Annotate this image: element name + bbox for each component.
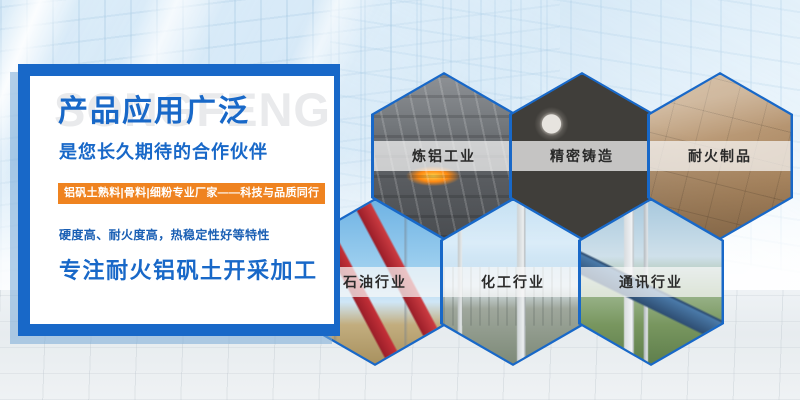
feature-text: 硬度高、耐火度高，热稳定性好等特性	[59, 229, 270, 241]
hexagon-label-casting: 精密铸造	[512, 141, 653, 171]
focus-headline: 专注耐火铝矾土开采加工	[59, 260, 318, 282]
tagline-badge: 铝矾土熟料|骨料|细粉专业厂家——科技与品质同行	[58, 183, 325, 204]
hexagon-label-chemical: 化工行业	[443, 267, 584, 297]
text-content-block: SONGFENG 产品应用广泛 是您长久期待的合作伙伴 铝矾土熟料|骨料|细粉专…	[18, 64, 348, 336]
hexagon-label-telecom: 通讯行业	[581, 267, 722, 297]
page-title: 产品应用广泛	[58, 97, 250, 127]
promotional-banner: 炼铝工业 精密铸造 耐火制品 石油行业 化工行业 通讯行业	[0, 0, 800, 400]
hexagon-label-smelting: 炼铝工业	[374, 141, 515, 171]
page-subtitle: 是您长久期待的合作伙伴	[59, 143, 268, 161]
hexagon-label-refractory: 耐火制品	[650, 141, 791, 171]
